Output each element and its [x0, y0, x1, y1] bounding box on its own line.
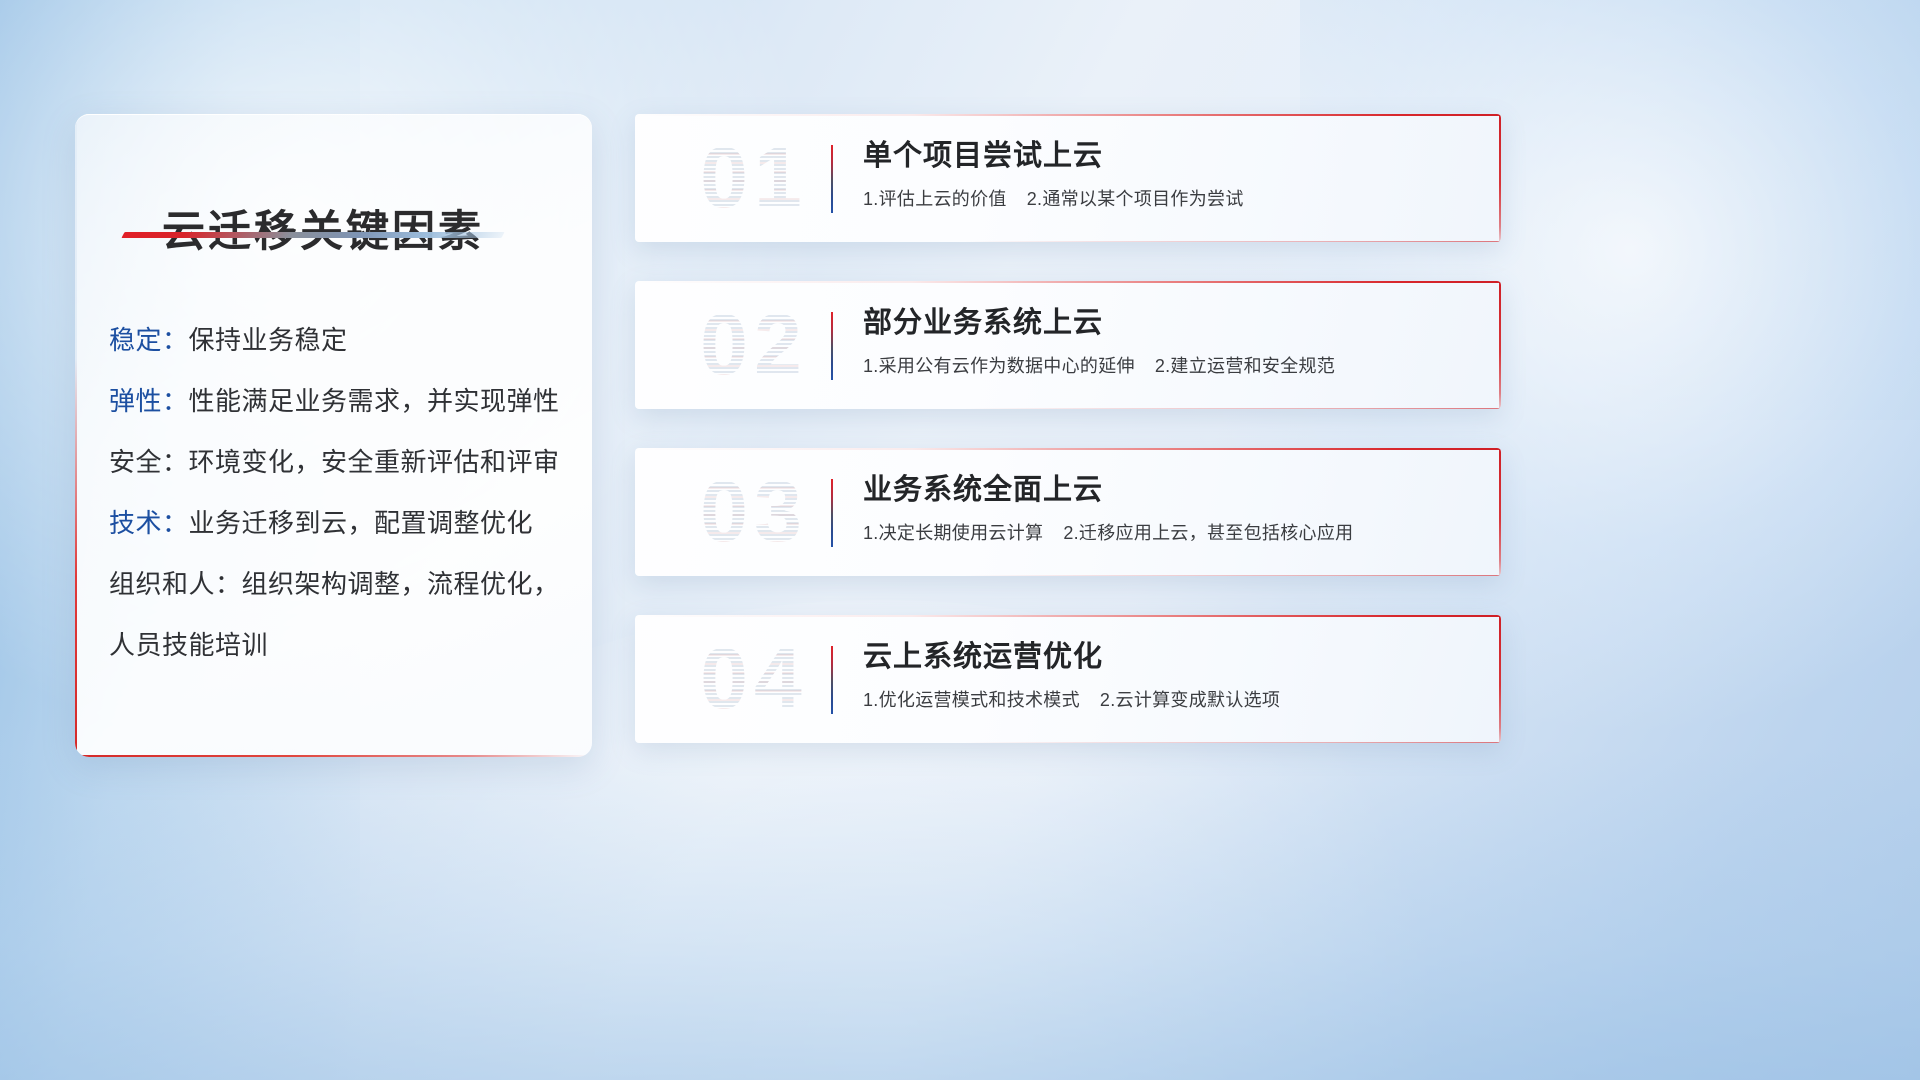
card-bottom-accent [964, 742, 1501, 743]
card-divider-bar [831, 646, 833, 714]
list-item-text: 业务迁移到云，配置调整优化 [189, 508, 534, 538]
card-right-accent [1499, 615, 1501, 743]
card-right-accent [1499, 448, 1501, 576]
list-item: 弹性：性能满足业务需求，并实现弹性 [109, 371, 568, 432]
card-description-part-2: 2.迁移应用上云，甚至包括核心应用 [1063, 523, 1353, 543]
card-top-accent [635, 281, 1501, 283]
card-description: 1.评估上云的价值2.通常以某个项目作为尝试 [863, 186, 1477, 212]
list-item-text: 人员技能培训 [109, 630, 268, 660]
list-item-text: 保持业务稳定 [189, 325, 348, 355]
card-title: 业务系统全面上云 [863, 470, 1477, 510]
card-right-accent [1499, 114, 1501, 242]
card-divider-bar [831, 312, 833, 380]
list-item-key: 稳定： [109, 325, 189, 355]
stage-number-watermark-tint: 04 [659, 629, 849, 729]
stage-card[interactable]: 01 01 单个项目尝试上云 1.评估上云的价值2.通常以某个项目作为尝试 [635, 114, 1501, 242]
list-item: 组织和人：组织架构调整，流程优化， [109, 554, 568, 615]
card-body: 部分业务系统上云 1.采用公有云作为数据中心的延伸2.建立运营和安全规范 [863, 303, 1477, 379]
card-description-part-1: 1.采用公有云作为数据中心的延伸 [863, 356, 1135, 376]
key-factors-list: 稳定：保持业务稳定 弹性：性能满足业务需求，并实现弹性 安全：环境变化，安全重新… [109, 310, 568, 676]
card-body: 云上系统运营优化 1.优化运营模式和技术模式2.云计算变成默认选项 [863, 637, 1477, 713]
panel-title: 云迁移关键因素 [162, 197, 484, 259]
stage-number-watermark-tint: 01 [659, 128, 849, 228]
card-divider-bar [831, 479, 833, 547]
card-top-accent [635, 615, 1501, 617]
list-item: 人员技能培训 [109, 615, 568, 676]
card-title: 单个项目尝试上云 [863, 136, 1477, 176]
card-description-part-1: 1.决定长期使用云计算 [863, 523, 1043, 543]
card-bottom-accent [964, 408, 1501, 409]
list-item: 稳定：保持业务稳定 [109, 310, 568, 371]
list-item-key: 弹性： [109, 386, 189, 416]
list-item-text: 环境变化，安全重新评估和评审 [189, 447, 560, 477]
list-item: 技术：业务迁移到云，配置调整优化 [109, 493, 568, 554]
card-top-accent [635, 114, 1501, 116]
stage-card[interactable]: 03 03 业务系统全面上云 1.决定长期使用云计算2.迁移应用上云，甚至包括核… [635, 448, 1501, 576]
card-bottom-accent [964, 241, 1501, 242]
card-description-part-2: 2.云计算变成默认选项 [1100, 690, 1280, 710]
card-title: 部分业务系统上云 [863, 303, 1477, 343]
card-description: 1.优化运营模式和技术模式2.云计算变成默认选项 [863, 687, 1477, 713]
list-item-key: 安全： [109, 447, 189, 477]
card-body: 业务系统全面上云 1.决定长期使用云计算2.迁移应用上云，甚至包括核心应用 [863, 470, 1477, 546]
card-divider-bar [831, 145, 833, 213]
stage-number-watermark-tint: 03 [659, 462, 849, 562]
migration-stage-cards: 01 01 单个项目尝试上云 1.评估上云的价值2.通常以某个项目作为尝试 02… [635, 114, 1501, 782]
list-item-text: 组织架构调整，流程优化， [242, 569, 560, 599]
card-description-part-2: 2.通常以某个项目作为尝试 [1027, 189, 1244, 209]
card-description: 1.决定长期使用云计算2.迁移应用上云，甚至包括核心应用 [863, 520, 1477, 546]
list-item-key: 组织和人： [109, 569, 242, 599]
title-underline-accent [121, 232, 504, 238]
card-title: 云上系统运营优化 [863, 637, 1477, 677]
list-item-key: 技术： [109, 508, 189, 538]
card-description: 1.采用公有云作为数据中心的延伸2.建立运营和安全规范 [863, 353, 1477, 379]
card-top-accent [635, 448, 1501, 450]
list-item-text: 性能满足业务需求，并实现弹性 [189, 386, 560, 416]
background-bottom-tint [0, 750, 1920, 1080]
card-right-accent [1499, 281, 1501, 409]
card-description-part-1: 1.评估上云的价值 [863, 189, 1007, 209]
slide-canvas: 云迁移关键因素 稳定：保持业务稳定 弹性：性能满足业务需求，并实现弹性 安全：环… [0, 0, 1920, 1080]
key-factors-panel: 云迁移关键因素 稳定：保持业务稳定 弹性：性能满足业务需求，并实现弹性 安全：环… [75, 114, 592, 757]
stage-card[interactable]: 02 02 部分业务系统上云 1.采用公有云作为数据中心的延伸2.建立运营和安全… [635, 281, 1501, 409]
panel-top-highlight [75, 114, 592, 115]
card-bottom-accent [964, 575, 1501, 576]
list-item: 安全：环境变化，安全重新评估和评审 [109, 432, 568, 493]
stage-card[interactable]: 04 04 云上系统运营优化 1.优化运营模式和技术模式2.云计算变成默认选项 [635, 615, 1501, 743]
card-description-part-1: 1.优化运营模式和技术模式 [863, 690, 1080, 710]
card-body: 单个项目尝试上云 1.评估上云的价值2.通常以某个项目作为尝试 [863, 136, 1477, 212]
card-description-part-2: 2.建立运营和安全规范 [1155, 356, 1335, 376]
stage-number-watermark-tint: 02 [659, 295, 849, 395]
